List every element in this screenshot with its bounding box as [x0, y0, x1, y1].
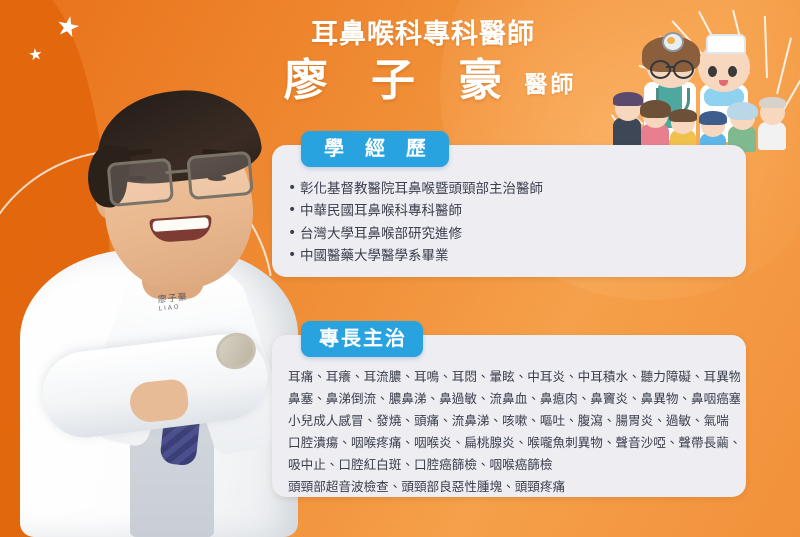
list-item: 台灣大學耳鼻喉部研究進修 [288, 223, 738, 245]
glasses-bridge [165, 169, 187, 174]
teeth-shape [152, 217, 209, 232]
doctor-profile-poster: 廖子豪LIAO [0, 0, 800, 537]
cartoon-patient [726, 100, 758, 150]
lens-left [107, 158, 175, 207]
list-item: 小兒成人感冒、發燒、頭痛、流鼻涕、咳嗽、嘔吐、腹瀉、腸胃炎、過敏、氣喘 [288, 410, 740, 432]
education-badge: 學 經 歷 [301, 131, 449, 167]
cartoon-patient [756, 94, 788, 148]
list-item: 頭頸部超音波檢查、頭頸部良惡性腫塊、頭頸疼痛 [288, 476, 740, 498]
poster-header: 耳鼻喉科專科醫師 廖 子 豪 醫師 [258, 20, 588, 104]
list-item: 吸中止、口腔紅白斑、口腔癌篩檢、咽喉癌篩檢 [288, 454, 740, 476]
list-item: 口腔潰瘍、咽喉疼痛、咽喉炎、扁桃腺炎、喉嚨魚刺異物、聲音沙啞、聲帶長繭、打鼾睡眠… [288, 432, 740, 454]
doctor-title: 醫師 [524, 65, 576, 104]
specialties-list: 耳痛、耳癢、耳流膿、耳鳴、耳悶、暈眩、中耳炎、中耳積水、聽力障礙、耳異物 鼻塞、… [288, 366, 740, 497]
list-item: 彰化基督教醫院耳鼻喉暨頭頸部主治醫師 [288, 178, 738, 200]
cartoon-illustration [598, 2, 794, 150]
list-item: 中國醫藥大學醫學系畢業 [288, 245, 738, 267]
education-list: 彰化基督教醫院耳鼻喉暨頭頸部主治醫師 中華民國耳鼻喉科專科醫師 台灣大學耳鼻喉部… [288, 178, 738, 268]
list-item: 鼻塞、鼻涕倒流、膿鼻涕、鼻過敏、流鼻血、鼻瘜肉、鼻竇炎、鼻異物、鼻咽癌塞檢 [288, 388, 740, 410]
specialties-badge: 專長主治 [301, 321, 423, 357]
lens-right [186, 151, 254, 200]
specialty-line: 耳鼻喉科專科醫師 [258, 20, 588, 50]
doctor-name-row: 廖 子 豪 醫師 [258, 58, 588, 104]
doctor-name: 廖 子 豪 [270, 58, 517, 104]
list-item: 耳痛、耳癢、耳流膿、耳鳴、耳悶、暈眩、中耳炎、中耳積水、聽力障礙、耳異物 [288, 366, 740, 388]
coat-name-embroidery: 廖子豪LIAO [157, 289, 189, 312]
cartoon-patient [638, 96, 672, 150]
list-item: 中華民國耳鼻喉科專科醫師 [288, 200, 738, 222]
